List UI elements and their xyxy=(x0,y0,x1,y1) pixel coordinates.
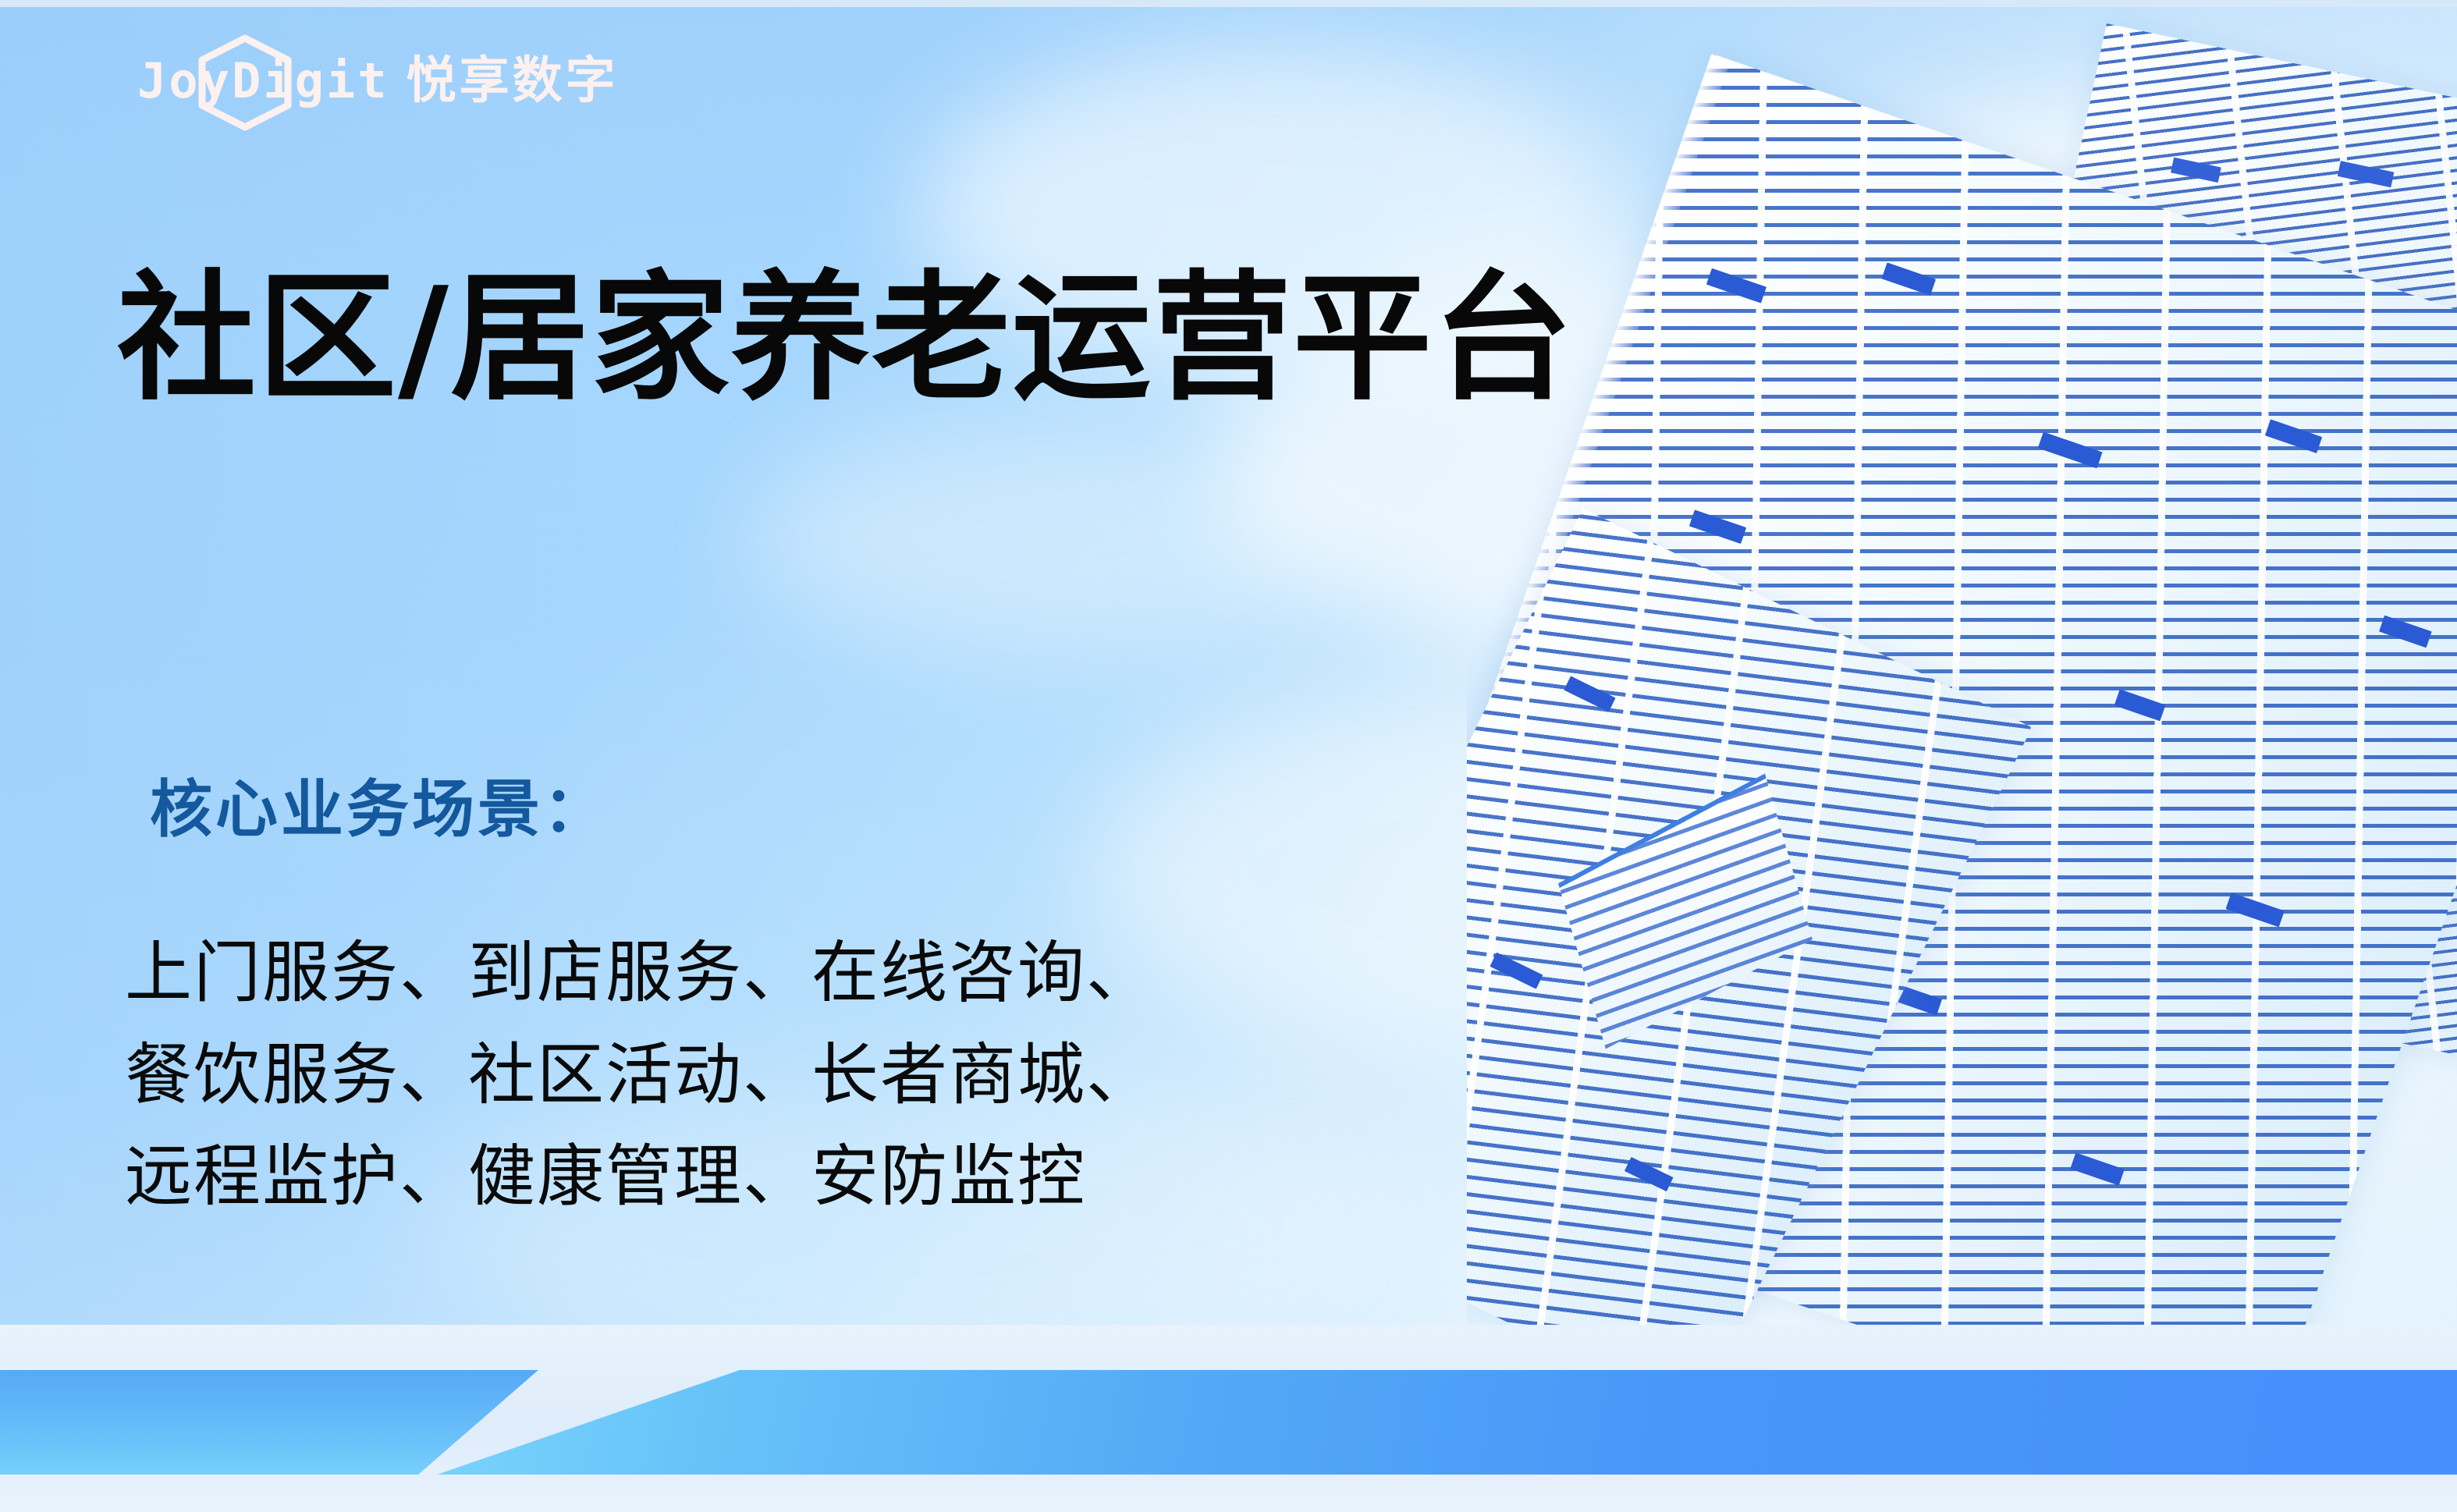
section-heading: 核心业务场景： xyxy=(150,772,609,847)
scenario-line: 上门服务、到店服务、在线咨询、 xyxy=(125,922,1155,1024)
cloud-shape xyxy=(749,421,1342,655)
page-title: 社区/居家养老运营平台 xyxy=(117,264,1574,413)
skyscraper-photo xyxy=(1467,0,2457,1397)
scenario-line: 餐饮服务、社区活动、长者商城、 xyxy=(125,1024,1155,1127)
bottom-decorative-band xyxy=(0,1325,2457,1512)
brand-logo-en: JoyDigit xyxy=(137,57,389,105)
slide-canvas: JoyDigit 悦享数字 社区/居家养老运营平台 核心业务场景： 上门服务、到… xyxy=(0,0,2457,1512)
band-right-fade xyxy=(2129,1370,2457,1475)
brand-logo[interactable]: JoyDigit 悦享数字 xyxy=(137,44,619,119)
top-pale-strip xyxy=(0,0,2457,7)
scenario-list: 上门服务、到店服务、在线咨询、 餐饮服务、社区活动、长者商城、 远程监护、健康管… xyxy=(125,922,1155,1228)
scenario-line: 远程监护、健康管理、安防监控 xyxy=(125,1126,1155,1228)
brand-logo-cn: 悦享数字 xyxy=(407,56,619,106)
